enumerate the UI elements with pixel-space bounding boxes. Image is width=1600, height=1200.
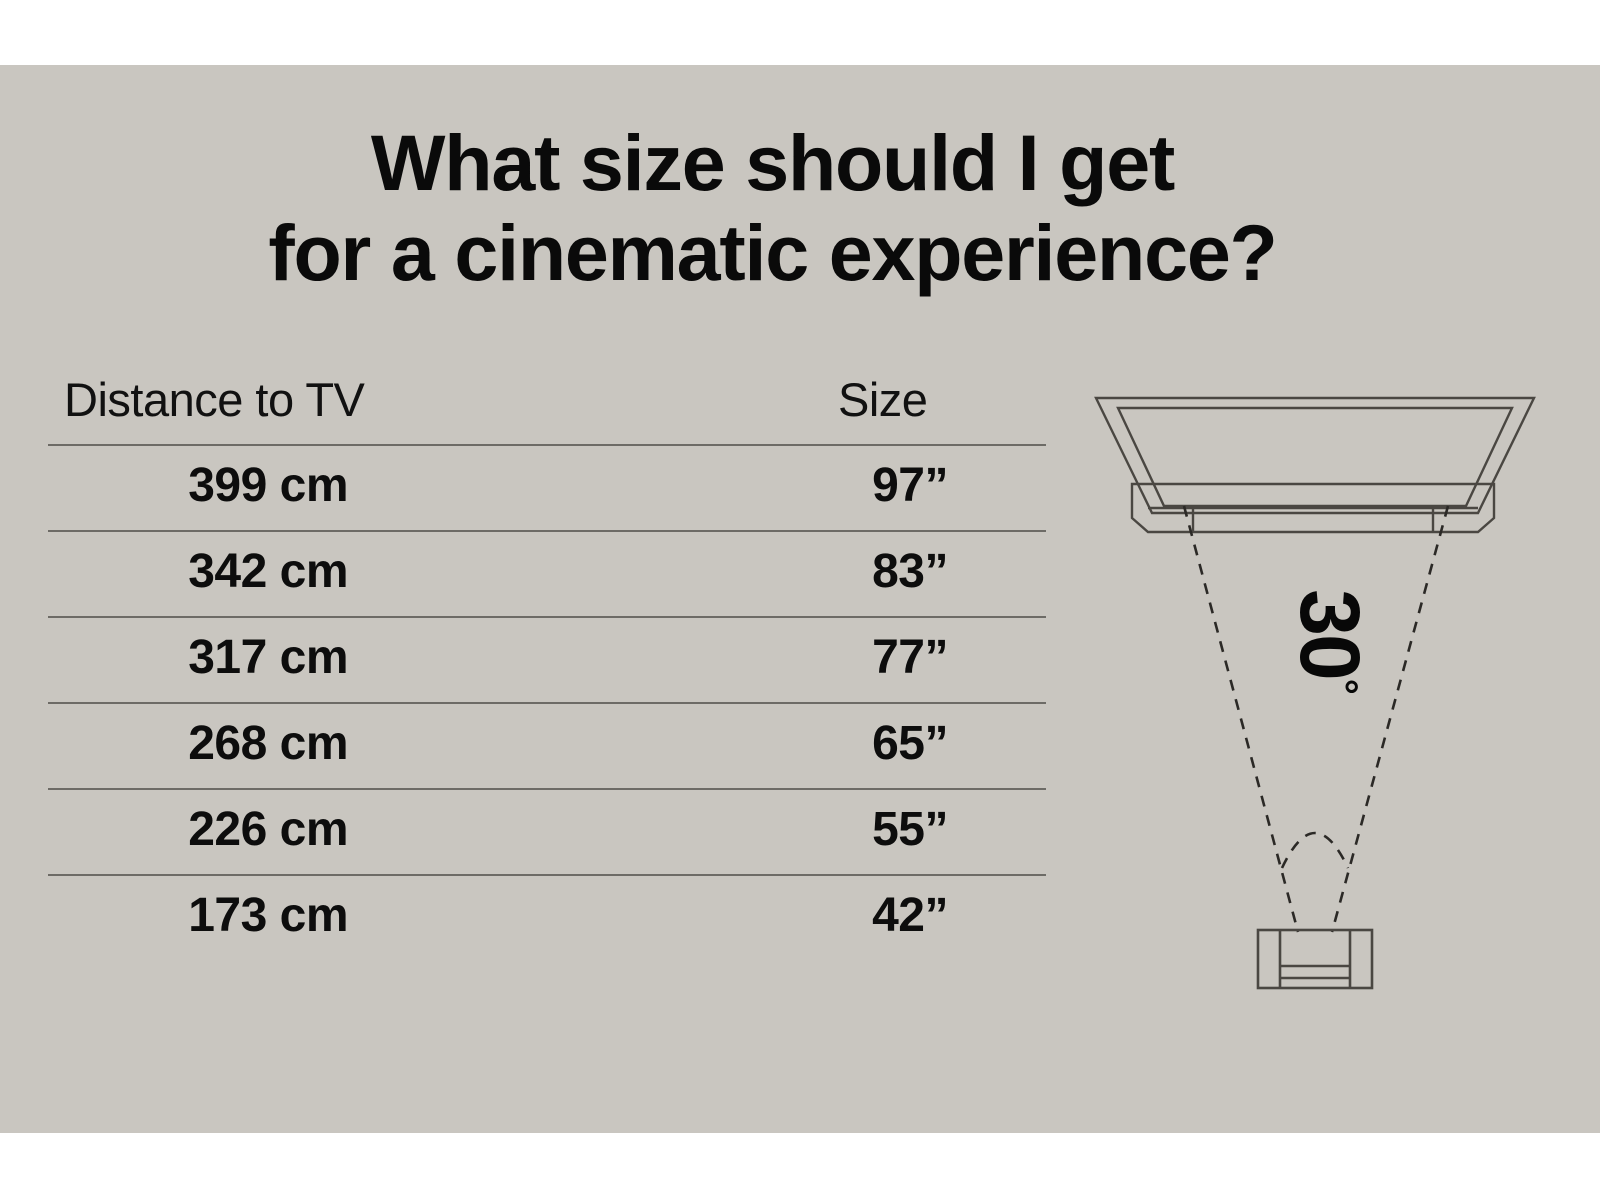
- cell-distance: 268 cm: [48, 716, 348, 771]
- table-row: 399 cm 97”: [48, 446, 1046, 530]
- cell-size: 83”: [648, 544, 948, 599]
- cell-size: 55”: [648, 802, 948, 857]
- infographic-stage: What size should I get for a cinematic e…: [0, 0, 1600, 1200]
- viewing-angle-label: 30°: [1253, 581, 1403, 701]
- column-header-size: Size: [838, 372, 927, 427]
- page-title-line-2: for a cinematic experience?: [0, 208, 1545, 298]
- cell-distance: 173 cm: [48, 888, 348, 943]
- cell-distance: 226 cm: [48, 802, 348, 857]
- cell-size: 65”: [648, 716, 948, 771]
- angle-arc: [1282, 833, 1348, 868]
- page-title: What size should I get for a cinematic e…: [0, 118, 1545, 298]
- cell-size: 77”: [648, 630, 948, 685]
- tv-screen-icon: [1096, 398, 1534, 513]
- table-row: 173 cm 42”: [48, 876, 1046, 960]
- table-header-row: Distance to TV Size: [48, 372, 1046, 444]
- tv-stand-icon: [1132, 484, 1494, 532]
- table-row: 226 cm 55”: [48, 790, 1046, 874]
- table-row: 268 cm 65”: [48, 704, 1046, 788]
- cell-distance: 317 cm: [48, 630, 348, 685]
- size-table: Distance to TV Size 399 cm 97” 342 cm 83…: [48, 372, 1046, 960]
- cell-distance: 399 cm: [48, 458, 348, 513]
- table-row: 342 cm 83”: [48, 532, 1046, 616]
- column-header-distance: Distance to TV: [64, 372, 364, 427]
- cell-distance: 342 cm: [48, 544, 348, 599]
- page-title-line-1: What size should I get: [0, 118, 1545, 208]
- angle-value: 30: [1283, 589, 1377, 678]
- cell-size: 42”: [648, 888, 948, 943]
- table-row: 317 cm 77”: [48, 618, 1046, 702]
- viewing-angle-cone: [1184, 506, 1448, 932]
- sofa-top-view-icon: [1258, 930, 1372, 988]
- cell-size: 97”: [648, 458, 948, 513]
- degree-symbol: °: [1321, 679, 1365, 693]
